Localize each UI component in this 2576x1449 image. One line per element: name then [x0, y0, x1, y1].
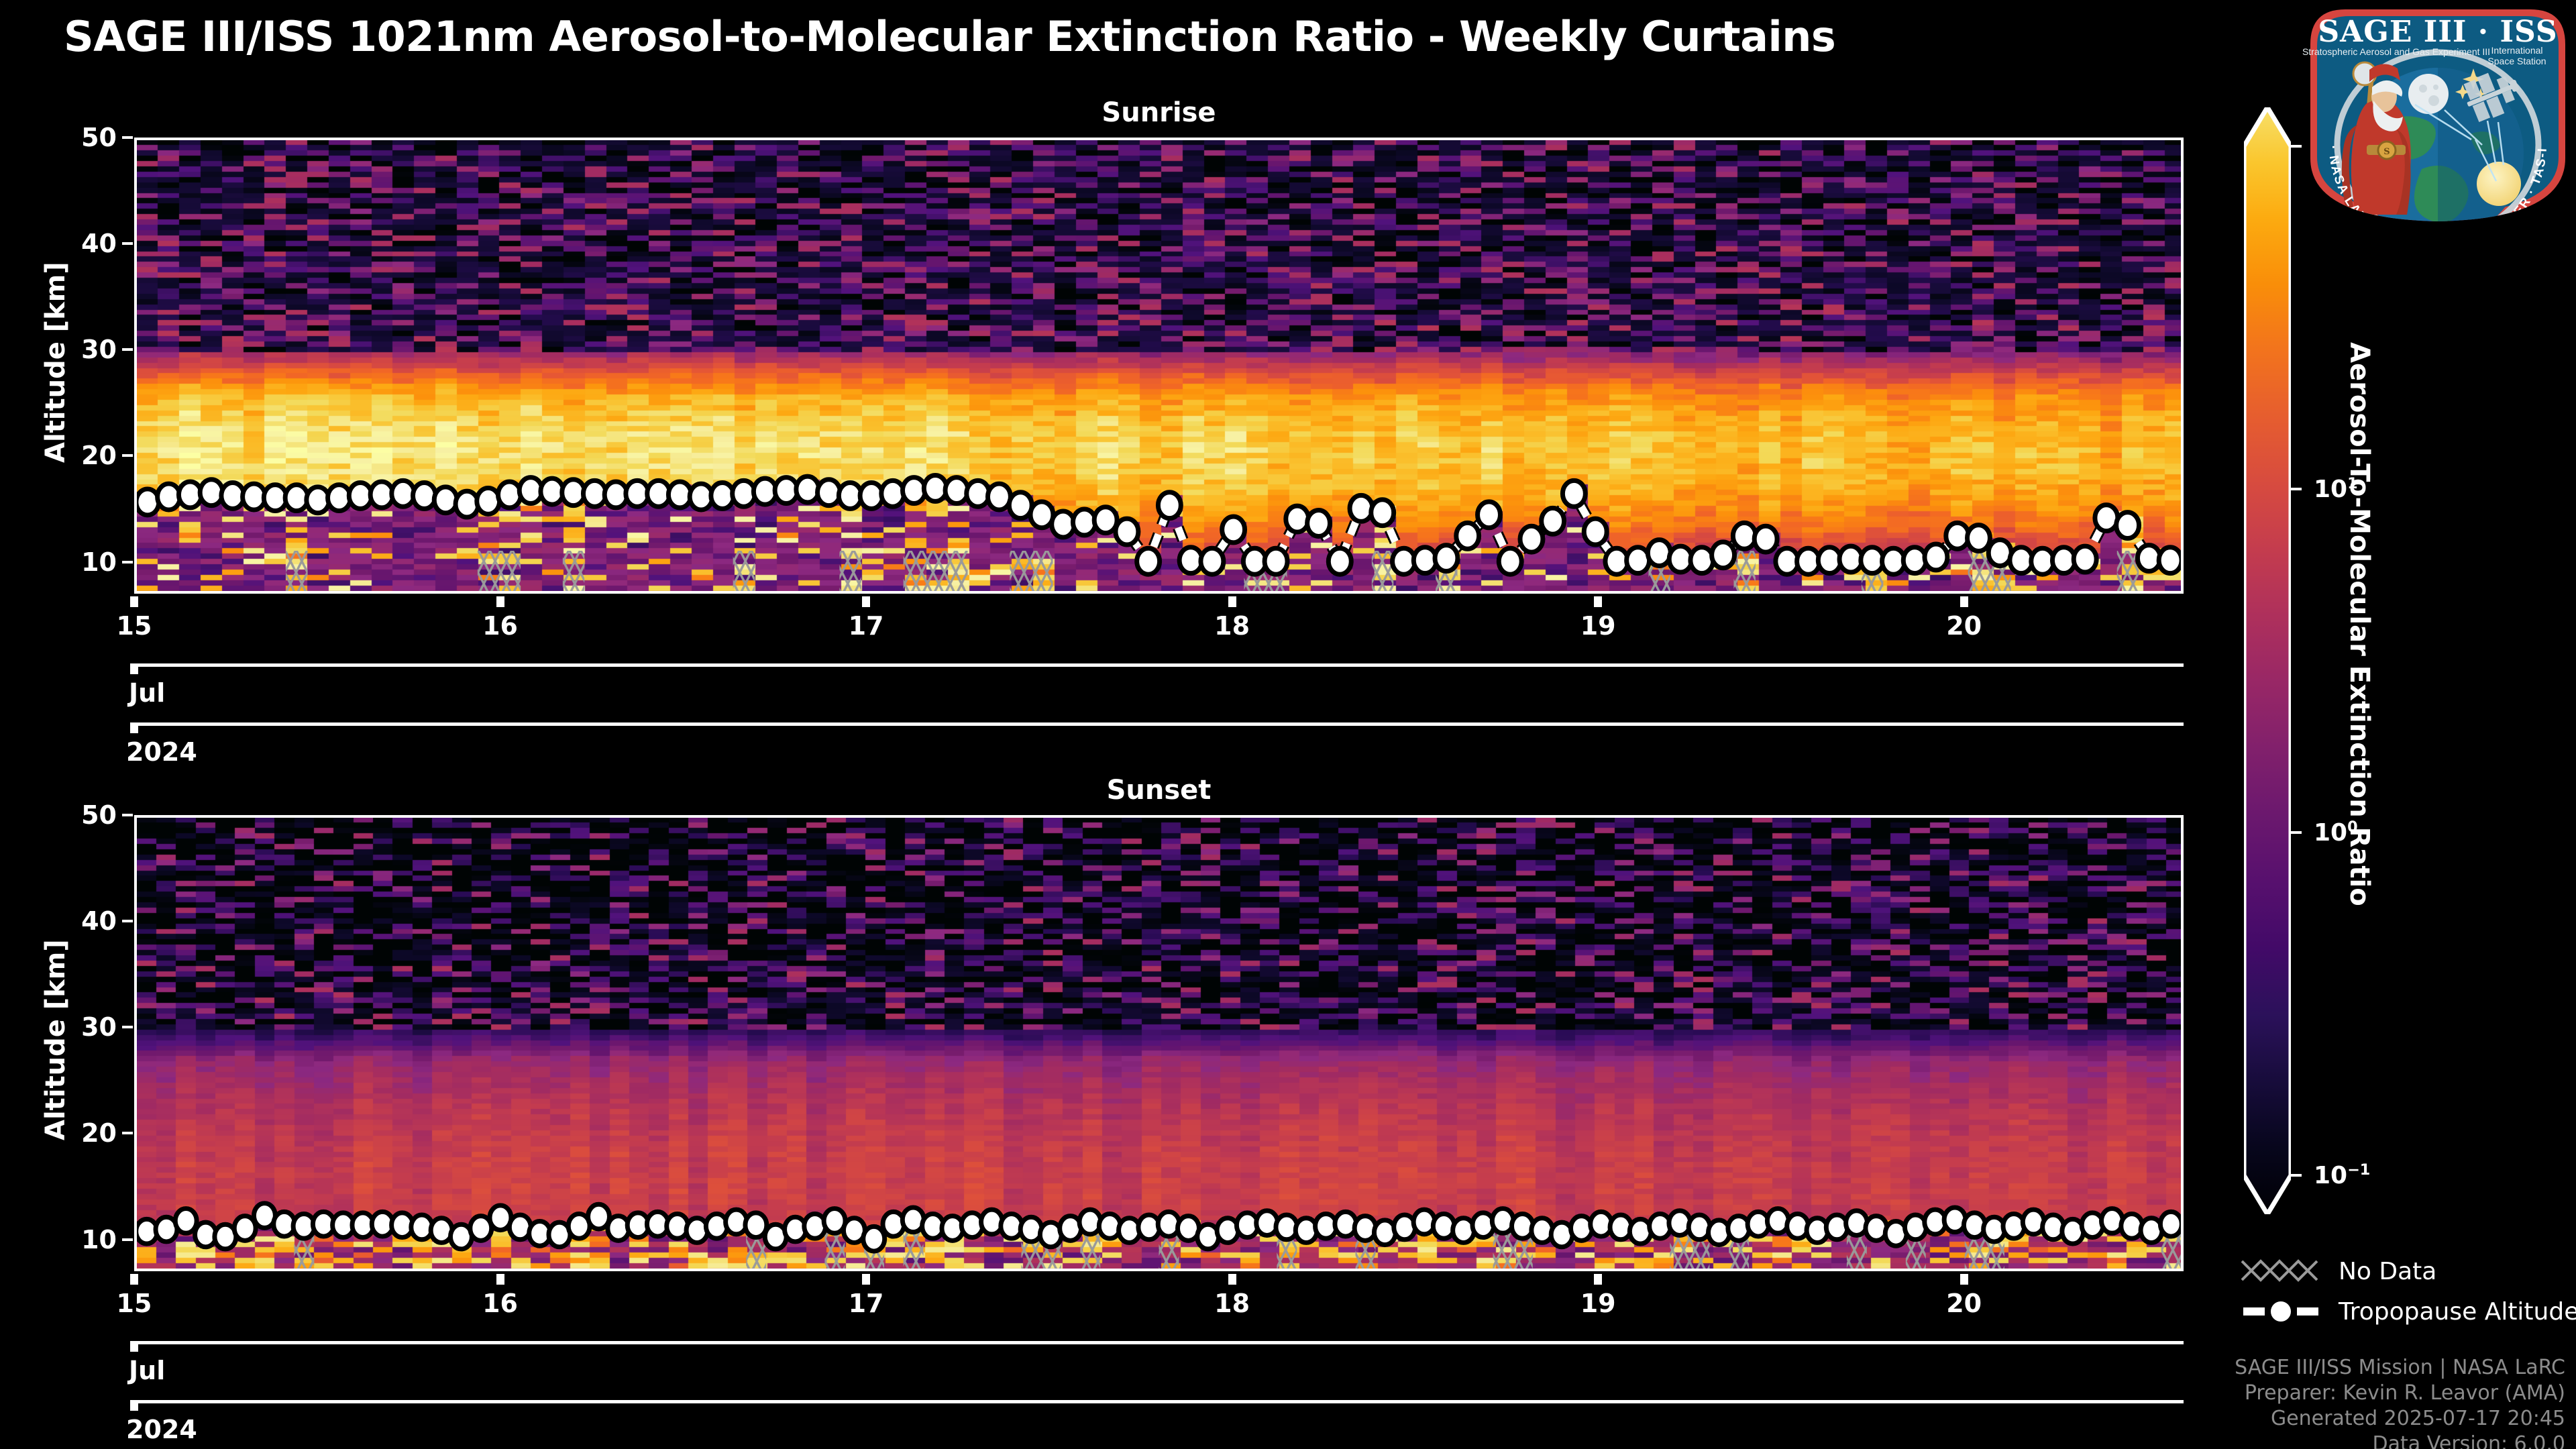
y-tick-label-sunset-40: 40: [60, 906, 117, 936]
x-axis-month-rule-sunrise: [134, 663, 2184, 667]
x-axis-month-rule-sunset: [134, 1341, 2184, 1344]
x-tick-mark-sunset-17: [862, 1274, 870, 1285]
y-tick-mark-sunrise-40: [122, 242, 133, 245]
y-tick-mark-sunrise-10: [122, 561, 133, 563]
x-tick-mark-sunset-15: [130, 1274, 138, 1285]
x-tick-mark-sunset-20: [1960, 1274, 1968, 1285]
y-tick-label-sunrise-50: 50: [60, 123, 117, 152]
sunset-plot-area[interactable]: [134, 815, 2184, 1271]
x-axis-month-tick-sunrise: [130, 663, 138, 674]
sunrise-overlay: [137, 140, 2181, 594]
x-tick-label-sunset-19: 19: [1580, 1289, 1616, 1318]
x-tick-label-sunrise-19: 19: [1580, 611, 1616, 641]
x-tick-label-sunrise-18: 18: [1214, 611, 1250, 641]
legend: No Data Tropopause Altitude: [2241, 1251, 2576, 1332]
page-title: SAGE III/ISS 1021nm Aerosol-to-Molecular…: [64, 12, 1835, 61]
y-tick-label-sunrise-20: 20: [60, 441, 117, 470]
y-tick-label-sunset-20: 20: [60, 1118, 117, 1148]
y-tick-mark-sunset-20: [122, 1132, 133, 1134]
colorbar-axis-label: Aerosol-To-Molecular Extinction Ratio: [2344, 342, 2375, 906]
figure-root: SAGE III/ISS 1021nm Aerosol-to-Molecular…: [0, 0, 2576, 1449]
mission-patch-svg: S BALL · NASA LANGLEY RESEARCH CENTER · …: [2302, 3, 2573, 224]
x-tick-label-sunset-17: 17: [849, 1289, 884, 1318]
legend-label-no-data: No Data: [2339, 1258, 2436, 1285]
y-tick-mark-sunset-10: [122, 1238, 133, 1241]
x-axis-year-tick-sunset: [130, 1400, 138, 1411]
x-tick-mark-sunset-18: [1228, 1274, 1236, 1285]
x-axis-year-tick-sunrise: [130, 722, 138, 733]
y-tick-label-sunrise-40: 40: [60, 229, 117, 258]
footer-credits: SAGE III/ISS Mission | NASA LaRC Prepare…: [2235, 1355, 2565, 1449]
y-tick-label-sunrise-10: 10: [60, 547, 117, 577]
colorbar-tick-mark-1: [2291, 488, 2302, 490]
dashed-circle-marker-icon: [2241, 1293, 2321, 1330]
patch-subtitle-left: Stratospheric Aerosol and Gas Experiment…: [2302, 46, 2490, 57]
sunset-overlay: [137, 818, 2181, 1271]
x-axis-month-label-sunset: Jul: [129, 1356, 165, 1385]
moon-icon: [2408, 74, 2449, 114]
y-tick-label-sunset-50: 50: [60, 800, 117, 830]
x-tick-label-sunrise-15: 15: [117, 611, 152, 641]
legend-item-tropopause[interactable]: Tropopause Altitude: [2241, 1291, 2576, 1332]
y-tick-label-sunset-10: 10: [60, 1225, 117, 1254]
x-tick-mark-sunrise-15: [130, 596, 138, 607]
x-axis-month-tick-sunset: [130, 1341, 138, 1352]
footer-line-mission: SAGE III/ISS Mission | NASA LaRC: [2235, 1355, 2565, 1381]
x-tick-label-sunset-18: 18: [1214, 1289, 1250, 1318]
legend-label-tropopause: Tropopause Altitude: [2339, 1298, 2576, 1326]
x-tick-label-sunset-20: 20: [1946, 1289, 1982, 1318]
x-tick-mark-sunrise-17: [862, 596, 870, 607]
x-tick-mark-sunrise-18: [1228, 596, 1236, 607]
patch-subtitle-right-2: Space Station: [2487, 56, 2546, 66]
x-axis-month-label-sunrise: Jul: [129, 678, 165, 708]
sunrise-plot-area[interactable]: [134, 138, 2184, 594]
panel-sunrise: Sunrise: [134, 138, 2184, 594]
x-tick-mark-sunrise-19: [1594, 596, 1602, 607]
x-axis-year-label-sunrise: 2024: [126, 737, 197, 767]
x-tick-label-sunrise-17: 17: [849, 611, 884, 641]
x-axis-year-rule-sunrise: [134, 722, 2184, 726]
x-tick-mark-sunrise-20: [1960, 596, 1968, 607]
colorbar[interactable]: 10210110010−1: [2244, 107, 2291, 1214]
hatch-x-icon: [2241, 1253, 2321, 1289]
x-axis-year-label-sunset: 2024: [126, 1415, 197, 1444]
colorbar-tick-mark-2: [2291, 831, 2302, 834]
y-tick-mark-sunset-30: [122, 1026, 133, 1028]
x-tick-label-sunrise-20: 20: [1946, 611, 1982, 641]
panel-sunrise-title: Sunrise: [134, 97, 2184, 128]
patch-subtitle-right-1: International: [2491, 45, 2542, 56]
colorbar-tick-label-3: 10−1: [2314, 1161, 2370, 1189]
y-tick-mark-sunrise-50: [122, 136, 133, 139]
x-tick-mark-sunset-16: [496, 1274, 504, 1285]
colorbar-gradient: [2244, 107, 2291, 1214]
x-tick-mark-sunset-19: [1594, 1274, 1602, 1285]
colorbar-tick-mark-3: [2291, 1174, 2302, 1177]
y-tick-label-sunset-30: 30: [60, 1012, 117, 1042]
sage-iii-iss-mission-patch-logo[interactable]: S BALL · NASA LANGLEY RESEARCH CENTER · …: [2302, 3, 2573, 224]
colorbar-tick-mark-0: [2291, 145, 2302, 148]
patch-title: SAGE III · ISS: [2318, 15, 2557, 49]
footer-line-generated: Generated 2025-07-17 20:45: [2235, 1406, 2565, 1432]
footer-line-preparer: Preparer: Kevin R. Leavor (AMA): [2235, 1381, 2565, 1406]
x-tick-label-sunrise-16: 16: [482, 611, 518, 641]
legend-item-no-data[interactable]: No Data: [2241, 1251, 2576, 1291]
footer-line-version: Data Version: 6.0.0: [2235, 1432, 2565, 1449]
x-axis-year-rule-sunset: [134, 1400, 2184, 1403]
svg-text:S: S: [2383, 147, 2390, 157]
y-tick-mark-sunset-50: [122, 814, 133, 816]
y-tick-mark-sunset-40: [122, 920, 133, 922]
y-tick-mark-sunrise-30: [122, 348, 133, 351]
panel-sunset: Sunset: [134, 815, 2184, 1271]
x-tick-label-sunset-16: 16: [482, 1289, 518, 1318]
x-tick-label-sunset-15: 15: [117, 1289, 152, 1318]
x-tick-mark-sunrise-16: [496, 596, 504, 607]
y-tick-mark-sunrise-20: [122, 454, 133, 457]
sun-icon: [2477, 162, 2521, 206]
y-tick-label-sunrise-30: 30: [60, 335, 117, 364]
panel-sunset-title: Sunset: [134, 775, 2184, 806]
